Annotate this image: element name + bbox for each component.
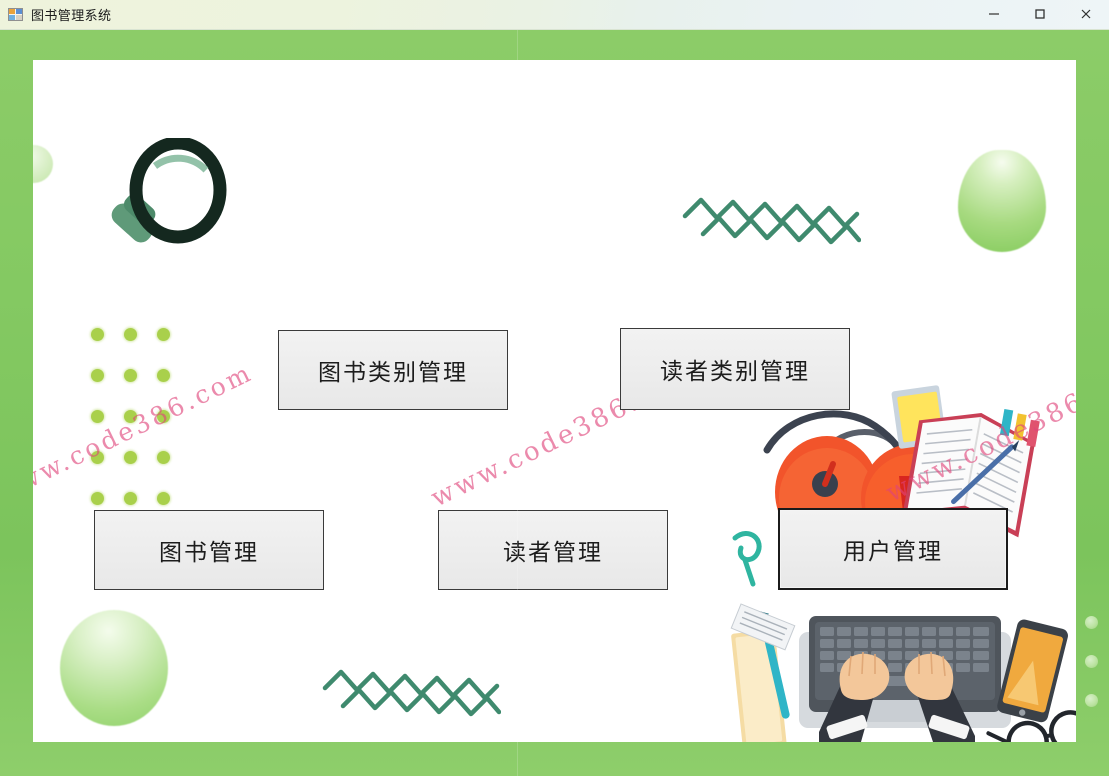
button-reader-manage[interactable]: 读者管理 [438, 510, 668, 590]
dot-grid [91, 328, 181, 508]
green-blob-top-right [958, 150, 1046, 252]
green-frame: www.code386.com www.code386.com www.code… [0, 30, 1109, 776]
button-reader-category[interactable]: 读者类别管理 [620, 328, 850, 410]
content-canvas: www.code386.com www.code386.com www.code… [33, 60, 1076, 742]
app-form-icon [8, 7, 24, 23]
green-blob-bottom-left [60, 610, 168, 726]
magnifier-icon [93, 138, 233, 268]
zigzag-line-top [681, 188, 861, 250]
frame-dot-1 [1085, 616, 1098, 629]
zigzag-line-bottom [321, 660, 501, 722]
maximize-button[interactable] [1017, 0, 1063, 29]
button-book-manage[interactable]: 图书管理 [94, 510, 324, 590]
frame-dot-2 [1085, 655, 1098, 668]
frame-dot-3 [1085, 694, 1098, 707]
minimize-button[interactable] [971, 0, 1017, 29]
button-user-manage[interactable]: 用户管理 [778, 508, 1008, 590]
close-button[interactable] [1063, 0, 1109, 29]
app-window: 图书管理系统 [0, 0, 1109, 776]
button-book-category[interactable]: 图书类别管理 [278, 330, 508, 410]
title-bar[interactable]: 图书管理系统 [0, 0, 1109, 30]
window-controls [971, 0, 1109, 30]
window-title: 图书管理系统 [31, 5, 111, 24]
green-blob-tiny-top-left [33, 145, 53, 183]
